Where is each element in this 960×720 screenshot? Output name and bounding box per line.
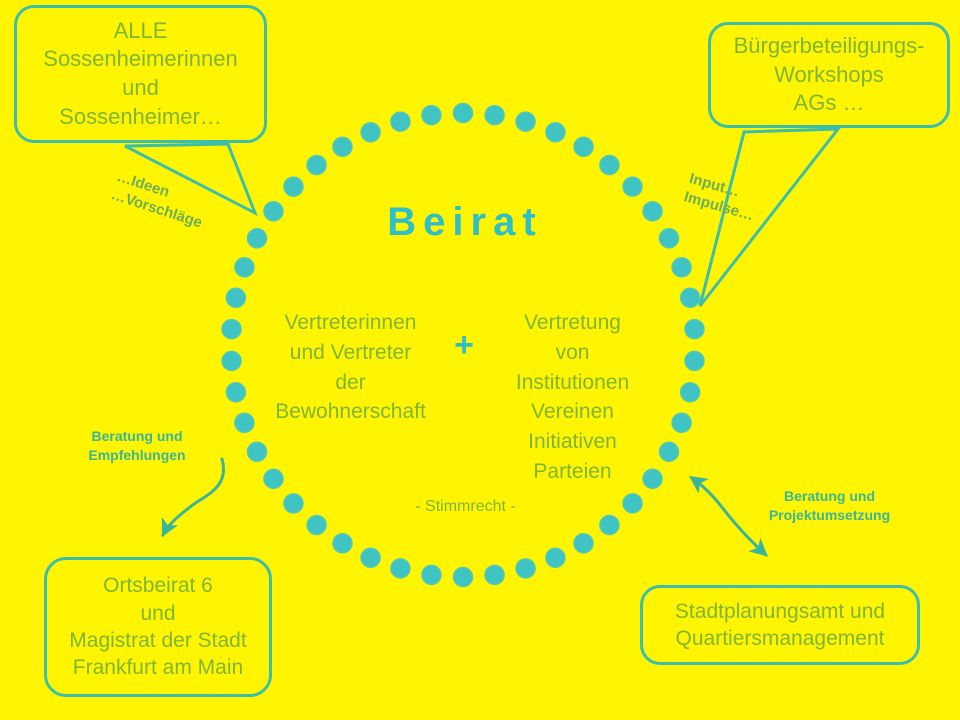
circle-dot	[222, 351, 241, 370]
circle-dot	[284, 494, 303, 513]
circle-dot	[307, 515, 326, 534]
circle-dot	[307, 156, 326, 175]
circle-dot	[659, 229, 678, 248]
arrow-label-beratung-projektumsetzung: Beratung und Projektumsetzung	[742, 487, 917, 525]
circle-dot	[284, 177, 303, 196]
circle-dot	[623, 177, 642, 196]
circle-dot	[248, 442, 267, 461]
circle-dot	[600, 156, 619, 175]
circle-dot	[333, 137, 352, 156]
center-left-column: Vertreterinnen und Vertreter der Bewohne…	[258, 308, 443, 427]
circle-dot	[422, 106, 441, 125]
circle-dot	[264, 469, 283, 488]
circle-dot	[681, 383, 700, 402]
circle-dot	[454, 568, 473, 587]
circle-dot	[685, 320, 704, 339]
circle-dot	[235, 413, 254, 432]
circle-dot	[623, 494, 642, 513]
circle-dot	[264, 202, 283, 221]
circle-dot	[222, 320, 241, 339]
circle-dot	[600, 515, 619, 534]
circle-dot	[546, 123, 565, 142]
arrow-beratung-empfehlungen	[163, 459, 224, 535]
circle-dot	[681, 288, 700, 307]
diagram-title: Beirat	[300, 200, 630, 245]
circle-dot	[672, 258, 691, 277]
circle-dot	[391, 559, 410, 578]
box-ortsbeirat[interactable]: Ortsbeirat 6 und Magistrat der Stadt Fra…	[44, 557, 272, 697]
speech-bubble-workshops[interactable]: Bürgerbeteiligungs- Workshops AGs …	[708, 22, 950, 128]
plus-icon: +	[443, 328, 485, 362]
circle-dot	[248, 229, 267, 248]
circle-dot	[226, 383, 245, 402]
circle-dot	[516, 559, 535, 578]
box-stadtplanungsamt[interactable]: Stadtplanungsamt und Quartiersmanagement	[640, 585, 920, 665]
circle-dot	[485, 106, 504, 125]
center-footnote-stimmrecht: - Stimmrecht -	[368, 498, 563, 516]
circle-dot	[333, 534, 352, 553]
flow-label-ideen-vorschlaege: …Ideen …Vorschläge	[108, 168, 210, 233]
speech-bubble-citizens-text: ALLE Sossenheimerinnen und Sossenheimer…	[17, 17, 264, 131]
circle-dot	[574, 534, 593, 553]
speech-bubble-citizens[interactable]: ALLE Sossenheimerinnen und Sossenheimer…	[14, 5, 267, 143]
circle-dot	[685, 351, 704, 370]
circle-dot	[546, 548, 565, 567]
circle-dot	[454, 104, 473, 123]
flow-label-input-impulse: Input… Impulse…	[682, 170, 761, 226]
center-right-column: Vertretung von Institutionen Vereinen In…	[480, 308, 665, 487]
arrow-label-beratung-empfehlungen: Beratung und Empfehlungen	[62, 427, 212, 465]
circle-dot	[672, 413, 691, 432]
box-stadtplanungsamt-text: Stadtplanungsamt und Quartiersmanagement	[643, 598, 917, 653]
circle-dot	[485, 565, 504, 584]
circle-dot	[235, 258, 254, 277]
speech-bubble-workshops-text: Bürgerbeteiligungs- Workshops AGs …	[711, 32, 947, 118]
circle-dot	[516, 112, 535, 131]
circle-dot	[574, 137, 593, 156]
circle-dot	[226, 288, 245, 307]
circle-dot	[361, 123, 380, 142]
diagram-canvas: ALLE Sossenheimerinnen und Sossenheimer……	[0, 0, 960, 720]
circle-dot	[391, 112, 410, 131]
circle-dot	[422, 565, 441, 584]
circle-dot	[643, 202, 662, 221]
box-ortsbeirat-text: Ortsbeirat 6 und Magistrat der Stadt Fra…	[47, 572, 269, 681]
circle-dot	[361, 548, 380, 567]
